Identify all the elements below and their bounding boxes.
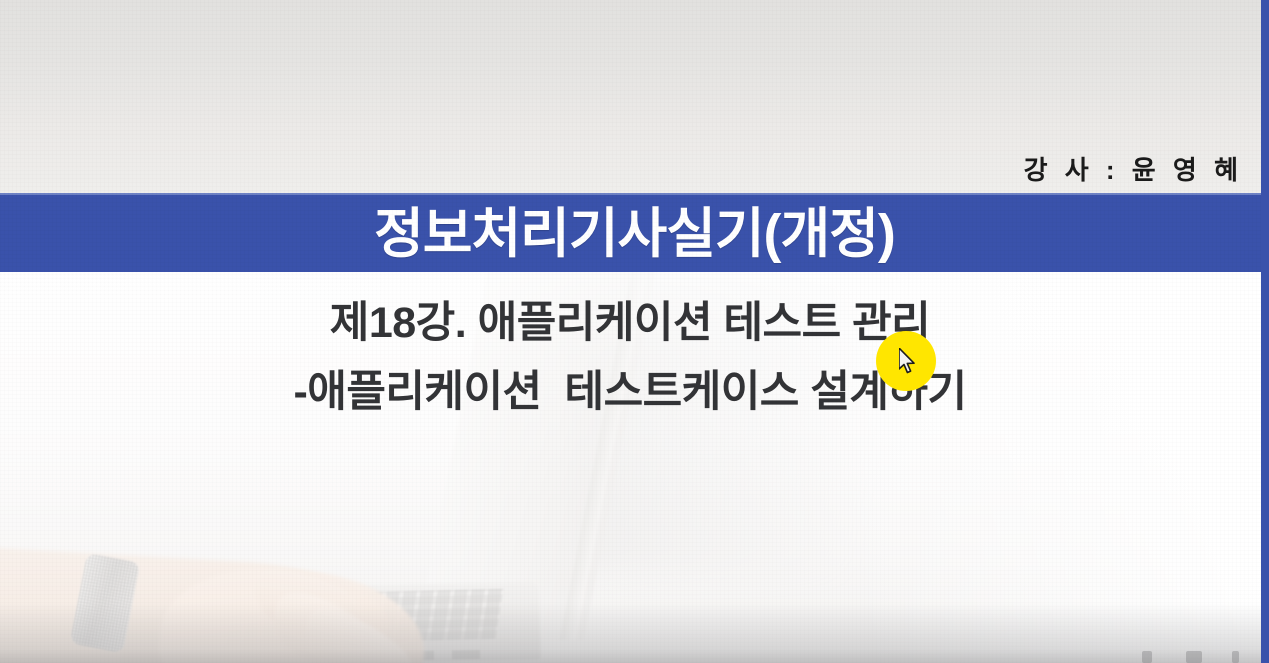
frame-border-right xyxy=(1261,0,1269,663)
background-photo-hands-typing xyxy=(0,270,1269,663)
photo-highlight-overlay xyxy=(669,270,1269,663)
course-title: 정보처리기사실기(개정) xyxy=(374,207,895,261)
arrow-pointer-icon xyxy=(899,348,919,376)
lecture-slide-screen: 강 사 : 윤 영 혜 정보처리기사실기(개정) 제18강. 애플리케이션 테스… xyxy=(0,0,1269,663)
course-title-band: 정보처리기사실기(개정) xyxy=(0,193,1269,272)
instructor-label: 강 사 : 윤 영 혜 xyxy=(1024,150,1243,187)
